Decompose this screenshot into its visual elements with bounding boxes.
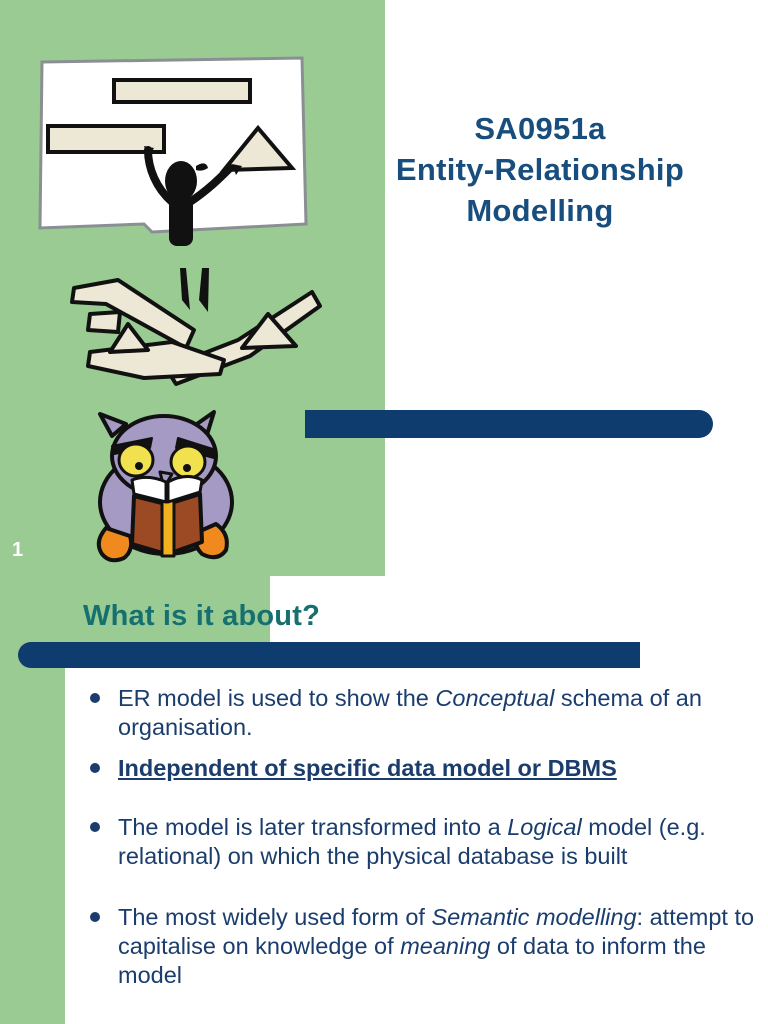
list-item: The model is later transformed into a Lo…: [78, 813, 756, 871]
slide-content: What is it about? ER model is used to sh…: [0, 576, 768, 1024]
presentation-board-clipart: [36, 56, 308, 256]
section-heading: What is it about?: [83, 600, 320, 633]
slide-title-block: SA0951a Entity-Relationship Modelling: [355, 108, 725, 231]
title-line-2: Entity-Relationship: [355, 149, 725, 190]
title-line-3: Modelling: [355, 190, 725, 231]
wooden-planks-clipart: [62, 268, 330, 396]
owl-reading-book-clipart: [82, 408, 254, 574]
decorative-bar-heading: [18, 642, 640, 668]
page-number: 1: [12, 540, 23, 560]
bullet-list: ER model is used to show the Conceptual …: [78, 684, 756, 990]
slide-title: SA0951a Entity-Relationship Modelling 1: [0, 0, 768, 576]
title-line-1: SA0951a: [355, 108, 725, 149]
bullet-dot-icon: [90, 693, 100, 703]
list-item: Independent of specific data model or DB…: [78, 754, 756, 783]
bullet-dot-icon: [90, 822, 100, 832]
list-item: ER model is used to show the Conceptual …: [78, 684, 756, 742]
bullet-dot-icon: [90, 763, 100, 773]
list-item: The most widely used form of Semantic mo…: [78, 903, 756, 990]
bullet-dot-icon: [90, 912, 100, 922]
decorative-bar-top: [305, 410, 713, 438]
